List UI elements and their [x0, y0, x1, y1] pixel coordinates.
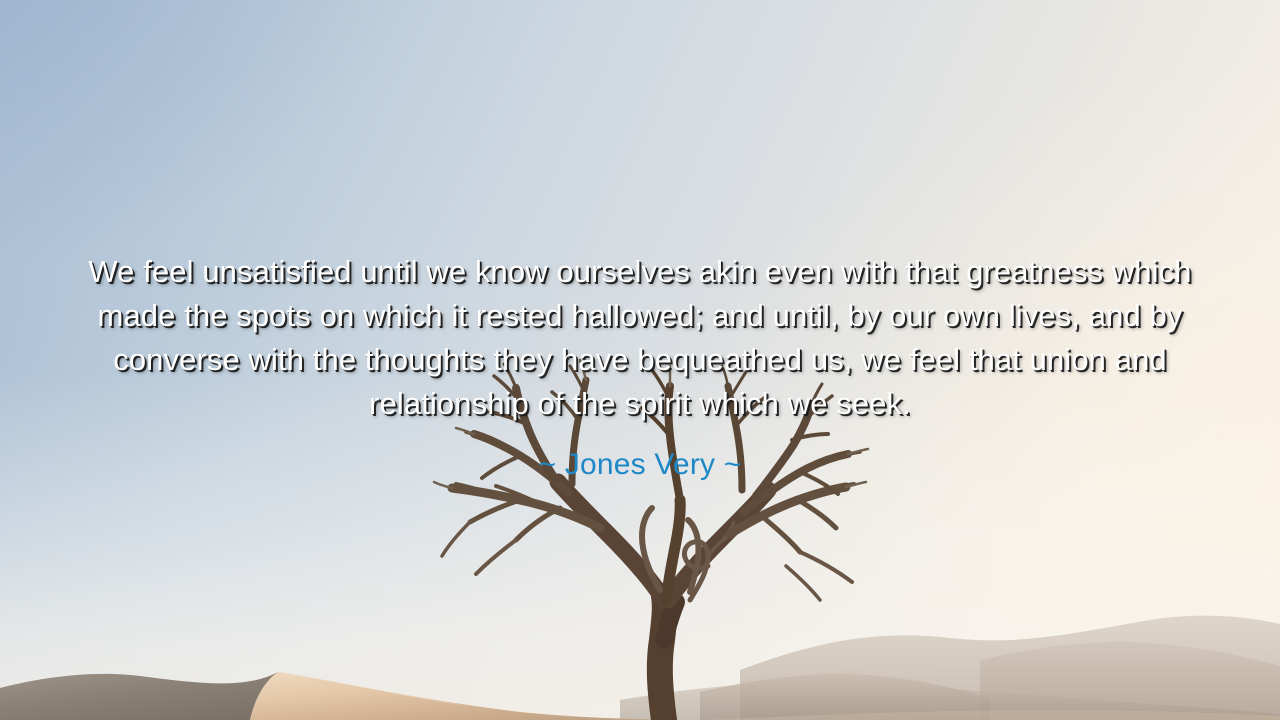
quote-image: We feel unsatisfied until we know oursel…: [0, 0, 1280, 720]
dead-tree: [0, 0, 1280, 720]
dead-tree-svg: [0, 0, 1280, 720]
tree-fork-left: [558, 482, 664, 600]
